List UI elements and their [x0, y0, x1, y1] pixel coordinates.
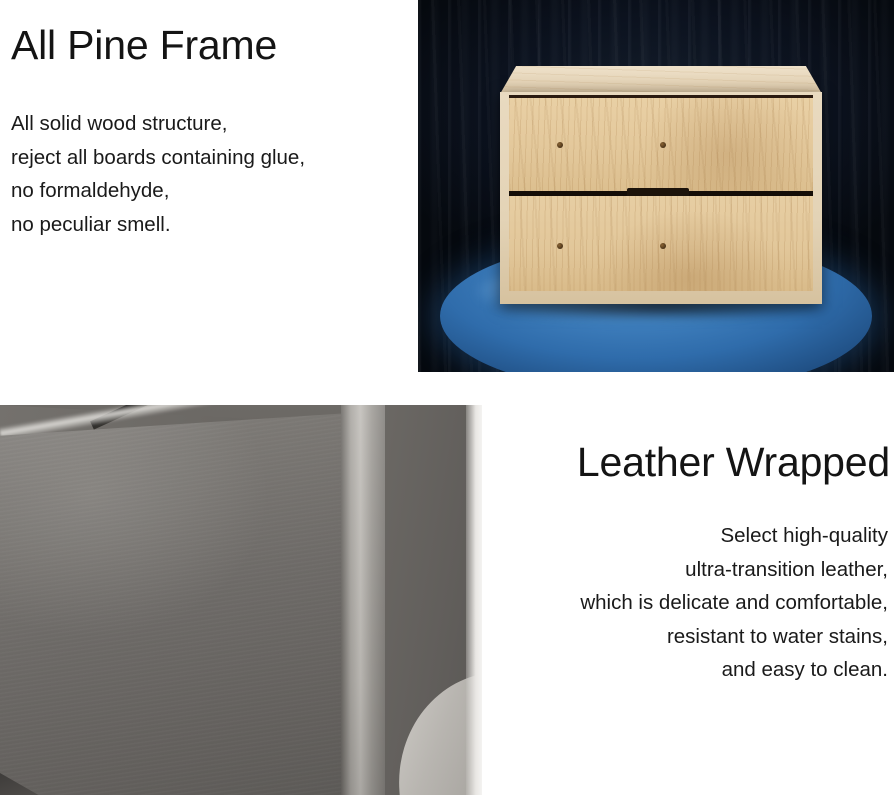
drawer-screw-lower-left: [557, 243, 563, 249]
leather-wrapped-heading: Leather Wrapped: [577, 439, 890, 485]
drawer-screw-upper-left: [557, 142, 563, 148]
leather-line-5: and easy to clean.: [486, 653, 888, 687]
nightstand-top-grain: [500, 66, 822, 94]
pine-frame-line-3: no formaldehyde,: [11, 174, 411, 208]
pine-frame-description: All solid wood structure, reject all boa…: [11, 107, 411, 241]
pine-frame-line-4: no peculiar smell.: [11, 208, 411, 242]
leather-line-4: resistant to water stains,: [486, 620, 888, 654]
leather-edge-shading: [341, 405, 385, 795]
leather-wrapped-description: Select high-quality ultra-transition lea…: [486, 519, 888, 687]
leather-line-2: ultra-transition leather,: [486, 553, 888, 587]
product-feature-page: All Pine Frame All solid wood structure,…: [0, 0, 894, 798]
pine-nightstand-photo: [418, 0, 894, 372]
pine-frame-text-panel: All Pine Frame All solid wood structure,…: [0, 0, 418, 405]
pine-frame-line-2: reject all boards containing glue,: [11, 141, 411, 175]
pine-frame-heading: All Pine Frame: [11, 22, 277, 68]
nightstand-body: [500, 66, 822, 306]
nightstand-drawer-area: [509, 95, 813, 291]
leather-drawer-front: [0, 413, 350, 795]
nightstand-case: [500, 92, 822, 304]
leather-line-1: Select high-quality: [486, 519, 888, 553]
drawer-screw-upper-right: [660, 142, 666, 148]
pine-frame-line-1: All solid wood structure,: [11, 107, 411, 141]
leather-wrapped-text-panel: Leather Wrapped Select high-quality ultr…: [482, 405, 894, 798]
drawer-screw-lower-right: [660, 243, 666, 249]
leather-right-sliver: [466, 405, 482, 795]
leather-grain-texture: [0, 413, 350, 795]
nightstand-top-surface: [500, 66, 822, 94]
leather-line-3: which is delicate and comfortable,: [486, 586, 888, 620]
leather-closeup-photo: [0, 405, 482, 795]
